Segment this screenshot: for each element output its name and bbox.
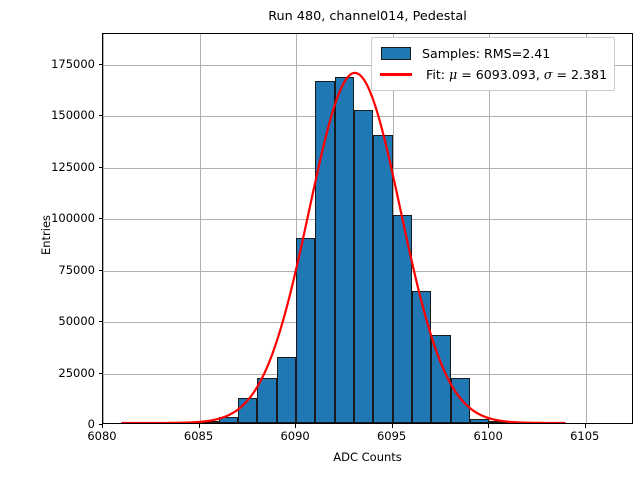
legend-swatch-samples [379, 47, 413, 61]
legend-label-fit: Fit: μ = 6093.093, σ = 2.381 [426, 67, 607, 82]
x-tick-label: 6085 [184, 429, 213, 443]
y-tick-label: 175000 [51, 57, 95, 71]
y-tick-mark [99, 218, 103, 219]
chart-title: Run 480, channel014, Pedestal [102, 8, 633, 26]
x-tick-mark [488, 424, 489, 428]
y-axis-label: Entries [39, 175, 53, 295]
x-tick-mark [295, 424, 296, 428]
x-tick-label: 6100 [474, 429, 503, 443]
y-tick-mark [99, 321, 103, 322]
x-tick-label: 6095 [377, 429, 406, 443]
x-tick-label: 6105 [570, 429, 599, 443]
y-tick-mark [99, 115, 103, 116]
legend-entry-fit: Fit: μ = 6093.093, σ = 2.381 [379, 64, 607, 85]
y-tick-mark [99, 64, 103, 65]
x-tick-label: 6080 [87, 429, 116, 443]
x-tick-mark [102, 424, 103, 428]
y-tick-label: 150000 [51, 108, 95, 122]
y-tick-label: 100000 [51, 211, 95, 225]
legend-fit-sigma-value: = 2.381 [552, 67, 607, 82]
y-tick-mark [99, 167, 103, 168]
legend-entry-samples: Samples: RMS=2.41 [379, 43, 607, 64]
y-tick-label: 0 [88, 417, 95, 431]
x-tick-mark [199, 424, 200, 428]
y-tick-label: 25000 [58, 366, 95, 380]
figure-canvas: Run 480, channel014, Pedestal 6080608560… [0, 0, 640, 480]
x-axis-label: ADC Counts [102, 450, 633, 464]
y-tick-mark [99, 424, 103, 425]
y-tick-label: 75000 [58, 263, 95, 277]
y-tick-label: 125000 [51, 160, 95, 174]
x-tick-mark [585, 424, 586, 428]
legend-fit-mu-symbol: μ [449, 67, 457, 82]
x-tick-mark [392, 424, 393, 428]
plot-area [102, 33, 633, 424]
legend-label-samples: Samples: RMS=2.41 [422, 46, 550, 61]
y-tick-label: 50000 [58, 314, 95, 328]
legend-box[interactable]: Samples: RMS=2.41 Fit: μ = 6093.093, σ =… [371, 37, 615, 91]
x-tick-label: 6090 [280, 429, 309, 443]
legend-fit-prefix: Fit: [426, 67, 449, 82]
y-tick-mark [99, 270, 103, 271]
y-tick-mark [99, 373, 103, 374]
gaussian-fit-curve [103, 34, 632, 423]
legend-swatch-fit [379, 68, 413, 82]
legend-fit-mu-value: = 6093.093, [457, 67, 544, 82]
